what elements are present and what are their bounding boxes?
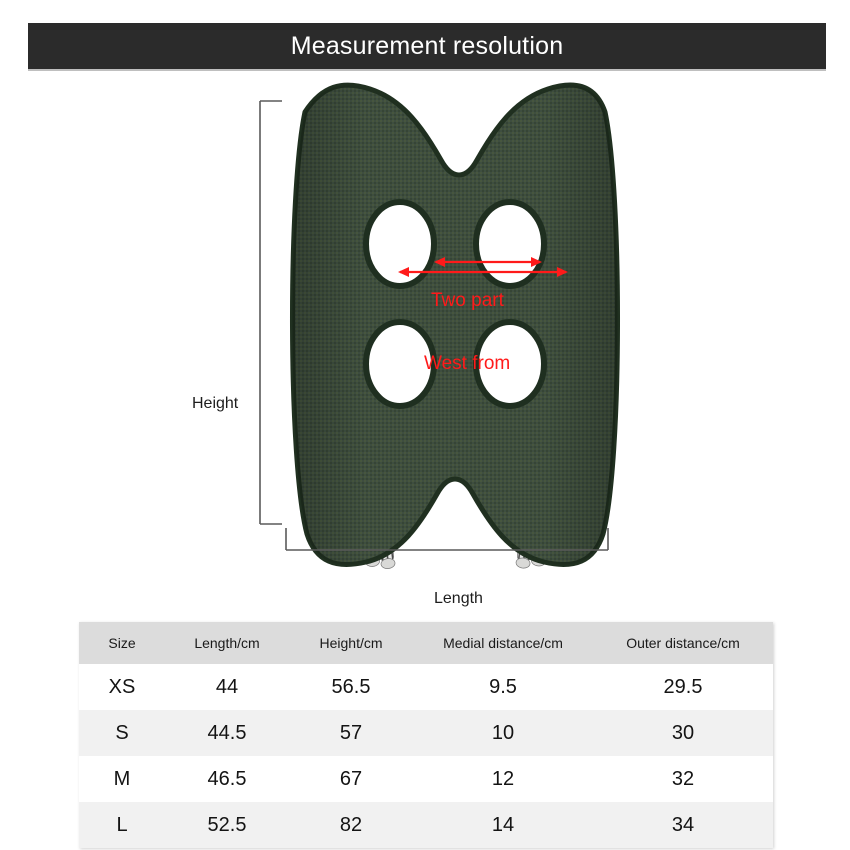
product-illustration (0, 72, 850, 612)
cell-outer: 32 (593, 756, 773, 802)
column-header-medial-distance: Medial distance/cm (413, 622, 593, 664)
cell-outer: 30 (593, 710, 773, 756)
column-header-length: Length/cm (165, 622, 289, 664)
cell-size: L (79, 802, 165, 848)
cell-size: XS (79, 664, 165, 710)
annotation-west-from: West from (424, 353, 510, 375)
table-row: M 46.5 67 12 32 (79, 756, 773, 802)
cell-outer: 29.5 (593, 664, 773, 710)
size-chart-container: Size Length/cm Height/cm Medial distance… (79, 622, 773, 848)
page-title: Measurement resolution (291, 32, 564, 61)
column-header-size: Size (79, 622, 165, 664)
table-header-row: Size Length/cm Height/cm Medial distance… (79, 622, 773, 664)
height-bracket (260, 101, 282, 524)
cell-length: 44.5 (165, 710, 289, 756)
cell-medial: 10 (413, 710, 593, 756)
header-banner: Measurement resolution (28, 23, 826, 69)
hole-top-right (476, 202, 544, 286)
cell-outer: 34 (593, 802, 773, 848)
cell-medial: 9.5 (413, 664, 593, 710)
product-body (292, 85, 617, 564)
column-header-outer-distance: Outer distance/cm (593, 622, 773, 664)
hole-top-left (366, 202, 434, 286)
column-header-height: Height/cm (289, 622, 413, 664)
cell-size: M (79, 756, 165, 802)
cell-medial: 12 (413, 756, 593, 802)
cell-height: 56.5 (289, 664, 413, 710)
height-dimension-label: Height (192, 395, 238, 413)
table-row: L 52.5 82 14 34 (79, 802, 773, 848)
table-row: S 44.5 57 10 30 (79, 710, 773, 756)
cell-height: 57 (289, 710, 413, 756)
cell-medial: 14 (413, 802, 593, 848)
table-row: XS 44 56.5 9.5 29.5 (79, 664, 773, 710)
cell-length: 46.5 (165, 756, 289, 802)
cell-length: 52.5 (165, 802, 289, 848)
cell-size: S (79, 710, 165, 756)
cell-height: 67 (289, 756, 413, 802)
annotation-two-part: Two part (431, 290, 504, 312)
cell-height: 82 (289, 802, 413, 848)
length-dimension-label: Length (434, 590, 483, 608)
cell-length: 44 (165, 664, 289, 710)
size-chart-table: Size Length/cm Height/cm Medial distance… (79, 622, 773, 848)
product-measurement-diagram: Two part West from Height Length (0, 72, 850, 612)
